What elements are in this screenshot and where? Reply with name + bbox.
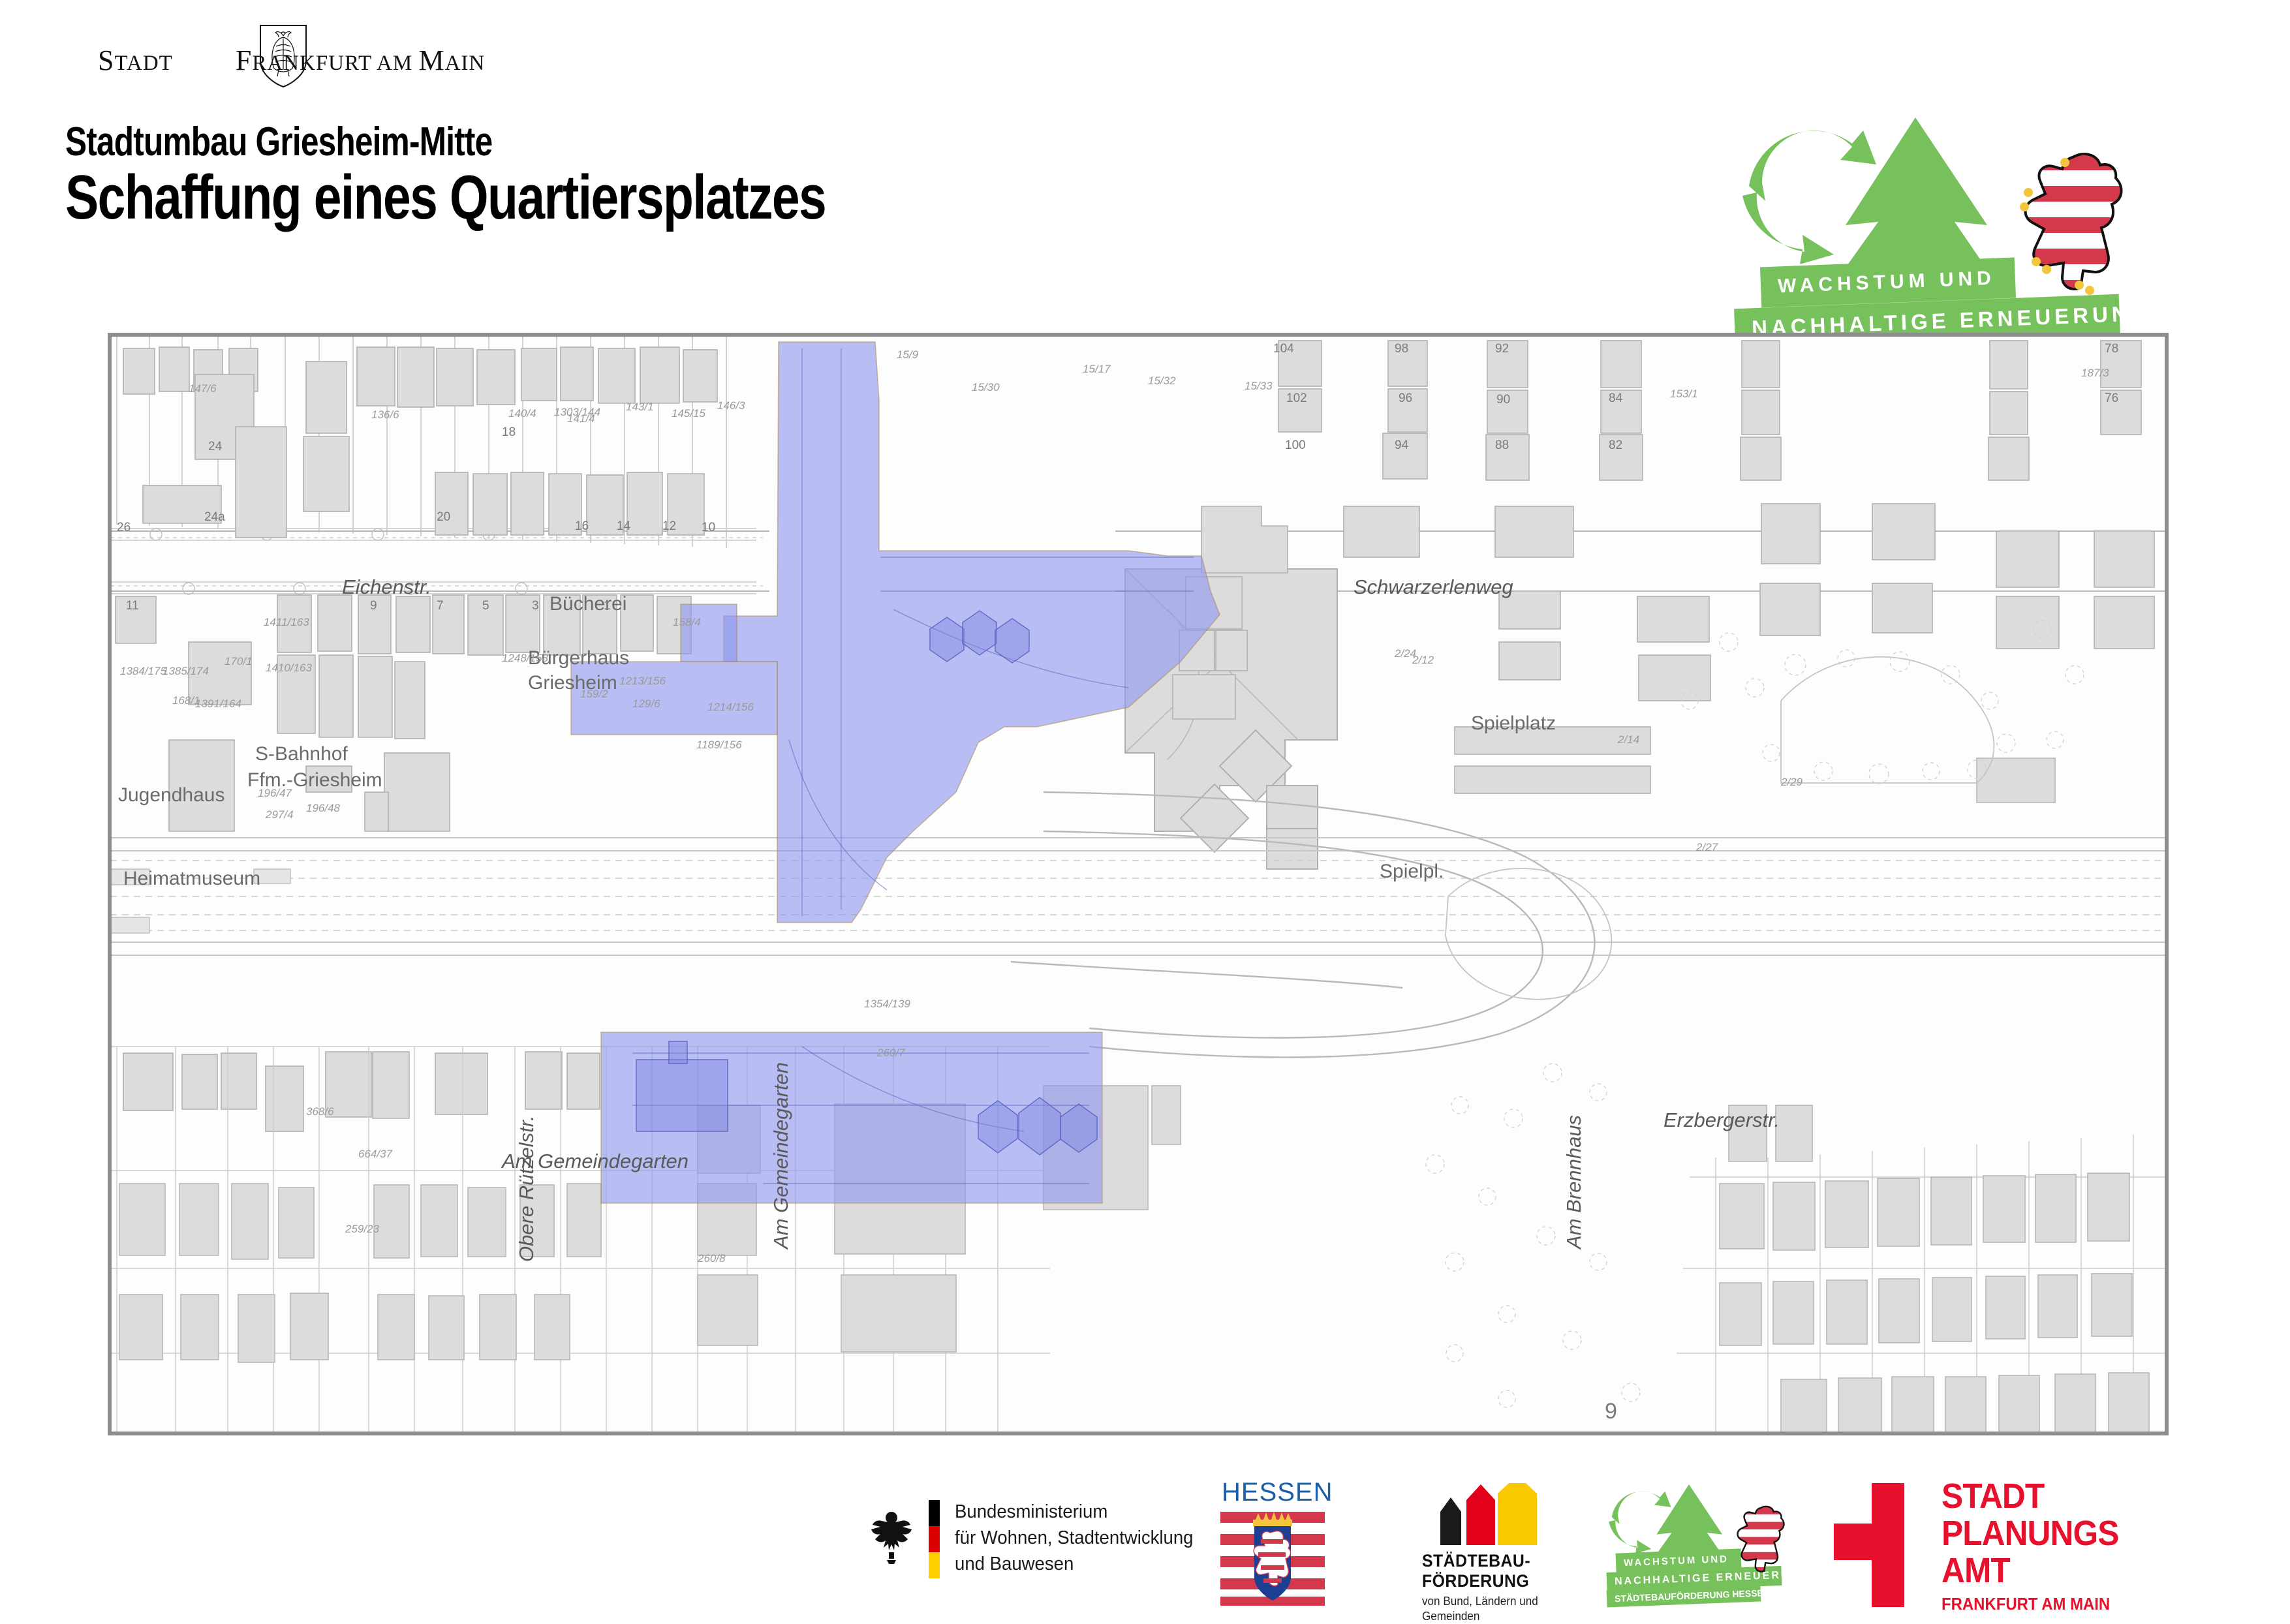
hessen-logo: HESSEN [1220, 1478, 1331, 1608]
footer-logo-bar: Bundesministerium für Wohnen, Stadtentwi… [0, 1471, 2290, 1618]
staedtebau-title: STÄDTEBAU- FÖRDERUNG [1422, 1551, 1530, 1591]
bmwsb-line-2: für Wohnen, Stadtentwicklung [955, 1525, 1194, 1551]
city-crest-block: STADTFRANKFURT AM MAIN [98, 29, 555, 88]
hessen-wordmark: HESSEN [1222, 1478, 1333, 1507]
stadtplanungsamt-logo: STADT PLANUNGS AMT FRANKFURT AM MAIN [1827, 1478, 2167, 1612]
spa-subtitle: FRANKFURT AM MAIN [1942, 1594, 2110, 1614]
staedtebau-sub-1: von Bund, Ländern und [1422, 1594, 1538, 1609]
hessen-lion-icon [2017, 147, 2128, 297]
staedtebaufoerderung-logo: STÄDTEBAU- FÖRDERUNG von Bund, Ländern u… [1413, 1483, 1583, 1610]
wordmark-stadt-rest: TADT [114, 52, 172, 75]
wachstum-logo-small: WACHSTUM UND NACHHALTIGE ERNEUERUNG STÄD… [1605, 1484, 1795, 1608]
stadtplanungsamt-wordmark: STADT PLANUNGS AMT [1942, 1478, 2118, 1589]
spa-line-3: AMT [1942, 1552, 2118, 1589]
bmwsb-text-block: Bundesministerium für Wohnen, Stadtentwi… [955, 1499, 1194, 1577]
staedtebau-line-2: FÖRDERUNG [1422, 1571, 1530, 1591]
page-title: Schaffung eines Quartiersplatzes [65, 162, 826, 234]
wordmark-f: F [236, 44, 252, 76]
bmwsb-line-3: und Bauwesen [955, 1551, 1194, 1577]
federal-eagle-icon [871, 1509, 912, 1565]
stadtplanungsamt-mark-icon [1827, 1483, 1919, 1607]
three-houses-icon [1425, 1483, 1542, 1545]
page-subtitle: Stadtumbau Griesheim-Mitte [65, 119, 492, 165]
spa-line-2: PLANUNGS [1942, 1515, 2118, 1552]
spa-line-1: STADT [1942, 1478, 2118, 1515]
german-flag-bar-icon [929, 1500, 940, 1578]
wordmark-stadt-s: S [98, 44, 114, 76]
map-drawing [110, 335, 2166, 1433]
hessen-lion-icon [1733, 1503, 1787, 1576]
staedtebau-line-1: STÄDTEBAU- [1422, 1551, 1530, 1571]
bmwsb-line-1: Bundesministerium [955, 1499, 1194, 1525]
bundesministerium-logo: Bundesministerium für Wohnen, Stadtentwi… [871, 1484, 1204, 1602]
cadastral-map[interactable]: Eichenstr. Schwarzerlenweg Erzbergerstr.… [108, 333, 2169, 1435]
wordmark-ain: AIN [445, 52, 486, 75]
staedtebau-subtitle: von Bund, Ländern und Gemeinden [1422, 1594, 1538, 1624]
wordmark-m: M [418, 44, 444, 76]
hessen-coat-of-arms-icon [1220, 1509, 1325, 1606]
wordmark-rankfurt: RANKFURT AM [252, 52, 418, 75]
staedtebau-sub-2: Gemeinden [1422, 1609, 1538, 1624]
city-wordmark: STADTFRANKFURT AM MAIN [98, 44, 485, 77]
